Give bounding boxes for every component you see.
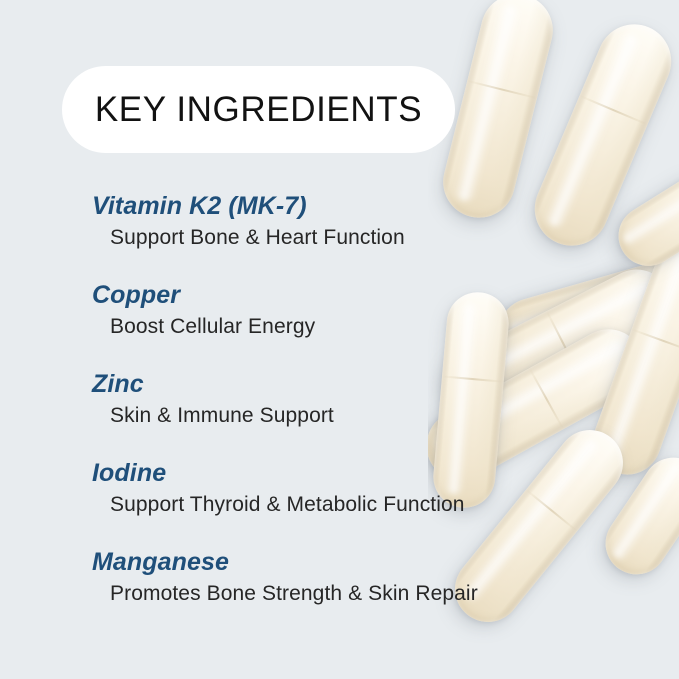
ingredient-list: Vitamin K2 (MK-7) Support Bone & Heart F… [0,180,480,625]
product-ingredients-panel: KEY INGREDIENTS Vitamin K2 (MK-7) Suppor… [0,0,679,679]
ingredient-name: Vitamin K2 (MK-7) [92,192,307,221]
page-title: KEY INGREDIENTS [95,90,422,130]
ingredient-description: Support Bone & Heart Function [110,226,405,250]
ingredient-description: Boost Cellular Energy [110,315,315,339]
ingredient-item-zinc: Zinc Skin & Immune Support [0,358,480,447]
ingredient-item-manganese: Manganese Promotes Bone Strength & Skin … [0,536,480,625]
ingredient-name: Zinc [92,370,144,399]
ingredient-item-vitamin-k2: Vitamin K2 (MK-7) Support Bone & Heart F… [0,180,480,269]
ingredient-description: Promotes Bone Strength & Skin Repair [110,582,478,606]
ingredient-name: Copper [92,281,180,310]
ingredient-item-copper: Copper Boost Cellular Energy [0,269,480,358]
key-ingredients-badge: KEY INGREDIENTS [62,66,455,153]
ingredient-name: Manganese [92,548,229,577]
ingredient-name: Iodine [92,459,166,488]
ingredient-item-iodine: Iodine Support Thyroid & Metabolic Funct… [0,447,480,536]
ingredient-description: Support Thyroid & Metabolic Function [110,493,465,517]
ingredient-description: Skin & Immune Support [110,404,334,428]
